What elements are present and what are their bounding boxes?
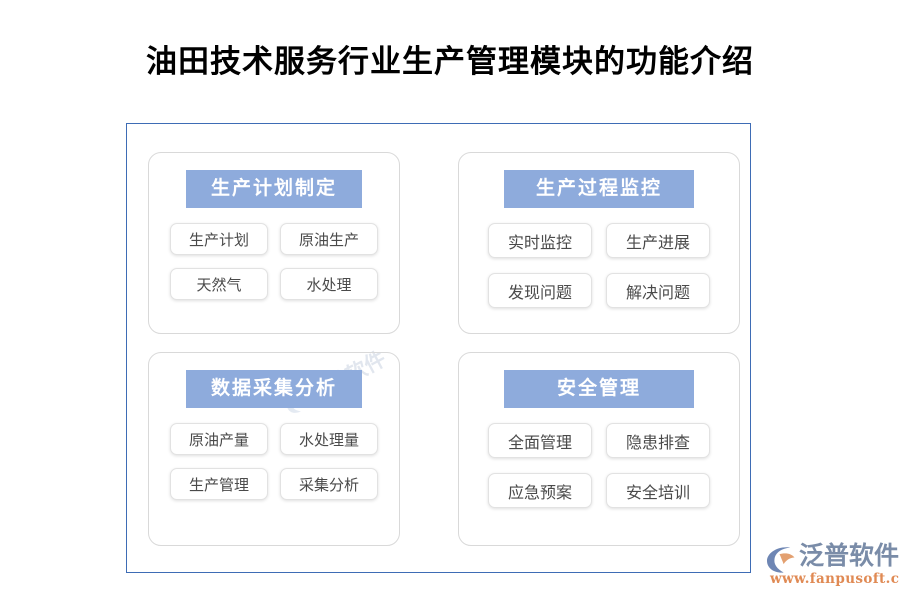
item-chip[interactable]: 天然气	[170, 268, 268, 300]
page-title: 油田技术服务行业生产管理模块的功能介绍	[0, 36, 900, 81]
item-chip[interactable]: 安全培训	[606, 473, 710, 508]
card-data-collection-analysis[interactable]: 数据采集分析 原油产量 水处理量 生产管理 采集分析	[148, 352, 400, 546]
item-chip[interactable]: 原油产量	[170, 423, 268, 455]
card-items-production-planning: 生产计划 原油生产 天然气 水处理	[170, 223, 378, 300]
brand-url: www.fanpusoft.com	[770, 571, 900, 587]
card-production-planning[interactable]: 生产计划制定 生产计划 原油生产 天然气 水处理	[148, 152, 400, 334]
item-chip[interactable]: 全面管理	[488, 423, 592, 458]
item-chip[interactable]: 采集分析	[280, 468, 378, 500]
item-chip[interactable]: 发现问题	[488, 273, 592, 308]
card-header-safety-management: 安全管理	[504, 370, 694, 408]
item-chip[interactable]: 应急预案	[488, 473, 592, 508]
card-safety-management[interactable]: 安全管理 全面管理 隐患排查 应急预案 安全培训	[458, 352, 740, 546]
item-chip[interactable]: 解决问题	[606, 273, 710, 308]
card-items-process-monitoring: 实时监控 生产进展 发现问题 解决问题	[488, 223, 710, 308]
brand-name: 泛普软件	[799, 543, 899, 569]
item-chip[interactable]: 生产计划	[170, 223, 268, 255]
item-chip[interactable]: 生产进展	[606, 223, 710, 258]
card-process-monitoring[interactable]: 生产过程监控 实时监控 生产进展 发现问题 解决问题	[458, 152, 740, 334]
item-chip[interactable]: 原油生产	[280, 223, 378, 255]
card-header-process-monitoring: 生产过程监控	[504, 170, 694, 208]
item-chip[interactable]: 实时监控	[488, 223, 592, 258]
card-header-data-collection-analysis: 数据采集分析	[186, 370, 362, 408]
card-items-data-collection-analysis: 原油产量 水处理量 生产管理 采集分析	[170, 423, 378, 500]
brand-logo[interactable]: 泛普软件 www.fanpusoft.com	[765, 543, 895, 591]
item-chip[interactable]: 隐患排查	[606, 423, 710, 458]
item-chip[interactable]: 水处理	[280, 268, 378, 300]
module-card-grid: 生产计划制定 生产计划 原油生产 天然气 水处理 生产过程监控 实时监控 生产进…	[148, 152, 740, 546]
card-items-safety-management: 全面管理 隐患排查 应急预案 安全培训	[488, 423, 710, 508]
item-chip[interactable]: 水处理量	[280, 423, 378, 455]
card-header-production-planning: 生产计划制定	[186, 170, 362, 208]
item-chip[interactable]: 生产管理	[170, 468, 268, 500]
